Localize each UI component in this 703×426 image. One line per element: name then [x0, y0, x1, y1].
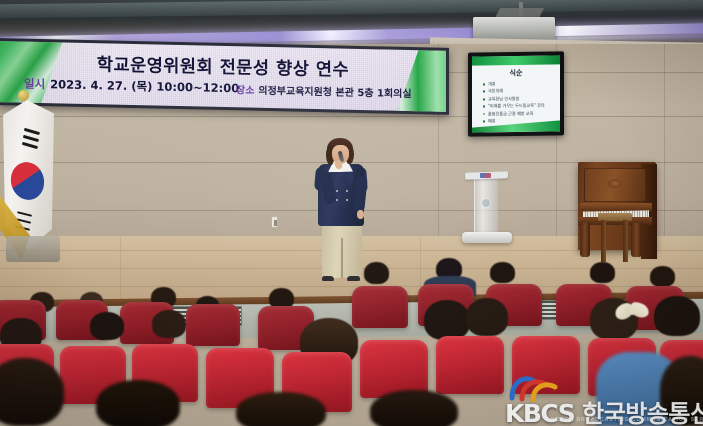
piano-medallion-icon	[608, 179, 622, 188]
speaker-shoe	[347, 276, 360, 281]
audience-head	[654, 296, 700, 336]
audience-head	[660, 356, 703, 426]
speaker-trouser-seam	[341, 238, 343, 278]
audience-head	[490, 262, 515, 283]
podium-badge	[480, 173, 491, 178]
audience-head	[370, 390, 458, 426]
jacket-button	[336, 190, 338, 192]
hair-bow	[615, 303, 649, 320]
audience-head	[590, 262, 615, 283]
wall-display: 식순 개회 국민의례 교육장님 인사말씀 "미래를 가꾸는 두드림교육" 강의 …	[468, 51, 564, 136]
seat	[436, 336, 504, 394]
banner-location-label: 장소	[236, 85, 254, 96]
banner-datetime-label: 일시	[24, 77, 45, 91]
bench-leg	[601, 220, 606, 262]
flag-stand	[6, 236, 60, 262]
speaker-shoe	[322, 276, 334, 281]
wall-outlet	[271, 216, 278, 228]
slide-decor-top	[472, 55, 560, 65]
banner-datetime-value: 2023. 4. 27. (목) 10:00~12:00	[50, 77, 239, 95]
audience-head	[96, 380, 180, 426]
ceiling-projector	[473, 17, 555, 41]
piano-leg	[631, 223, 642, 257]
audience-head	[90, 312, 124, 340]
piano-leg	[580, 223, 590, 257]
audience-head	[0, 358, 64, 426]
podium-base	[462, 232, 512, 243]
audience-head	[236, 392, 326, 426]
seat	[512, 336, 580, 394]
hair-bow-knot	[629, 308, 636, 315]
speaker-hand	[357, 210, 364, 219]
podium-emblem-icon	[481, 198, 491, 208]
banner-datetime: 일시2023. 4. 27. (목) 10:00~12:00	[24, 76, 239, 97]
seat	[352, 286, 408, 328]
jacket-button	[346, 199, 348, 201]
slide-agenda-list: 개회 국민의례 교육장님 인사말씀 "미래를 가꾸는 두드림교육" 강의 출범진…	[483, 79, 555, 124]
led-banner: 학교운영위원회 전문성 향상 연수 일시2023. 4. 27. (목) 10:…	[0, 38, 449, 115]
jacket-button	[346, 190, 348, 192]
banner-location: 장소의정부교육지원청 본관 5층 1회의실	[236, 81, 412, 100]
display-screen: 식순 개회 국민의례 교육장님 인사말씀 "미래를 가꾸는 두드림교육" 강의 …	[472, 55, 560, 132]
flag-finial-icon	[18, 90, 29, 101]
audience-head	[424, 300, 470, 340]
audience-head	[650, 266, 675, 287]
slide-title: 식순	[472, 67, 560, 78]
audience-head	[364, 262, 389, 284]
watermark-brand: KBCS	[505, 399, 574, 426]
bench-leg	[623, 220, 628, 262]
audience-head	[466, 298, 508, 336]
seat	[186, 304, 240, 346]
banner-location-value: 의정부교육지원청 본관 5층 1회의실	[258, 86, 411, 100]
audience-head	[152, 310, 186, 338]
auditorium-photo: 학교운영위원회 전문성 향상 연수 일시2023. 4. 27. (목) 10:…	[0, 0, 703, 426]
